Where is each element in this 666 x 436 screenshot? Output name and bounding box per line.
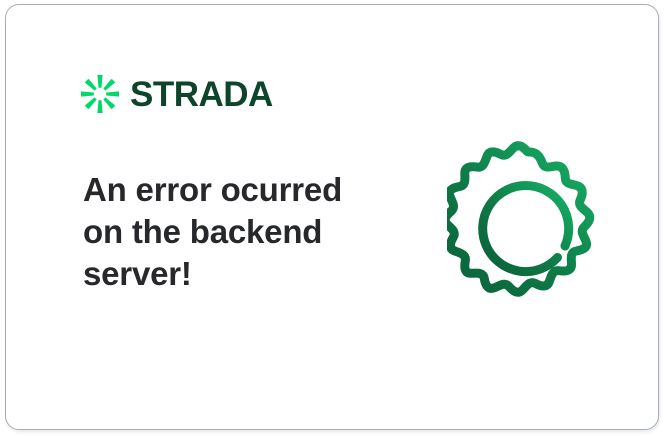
brand-wordmark: STRADA xyxy=(130,77,273,112)
error-headline: An error ocurred on the backend server! xyxy=(83,169,383,295)
gear-inner-ring xyxy=(483,186,569,272)
brand-logo: STRADA xyxy=(79,73,273,115)
error-card: STRADA An error ocurred on the backend s… xyxy=(5,4,659,430)
gear-cog-icon xyxy=(447,141,613,307)
strada-asterisk-icon xyxy=(79,73,121,115)
